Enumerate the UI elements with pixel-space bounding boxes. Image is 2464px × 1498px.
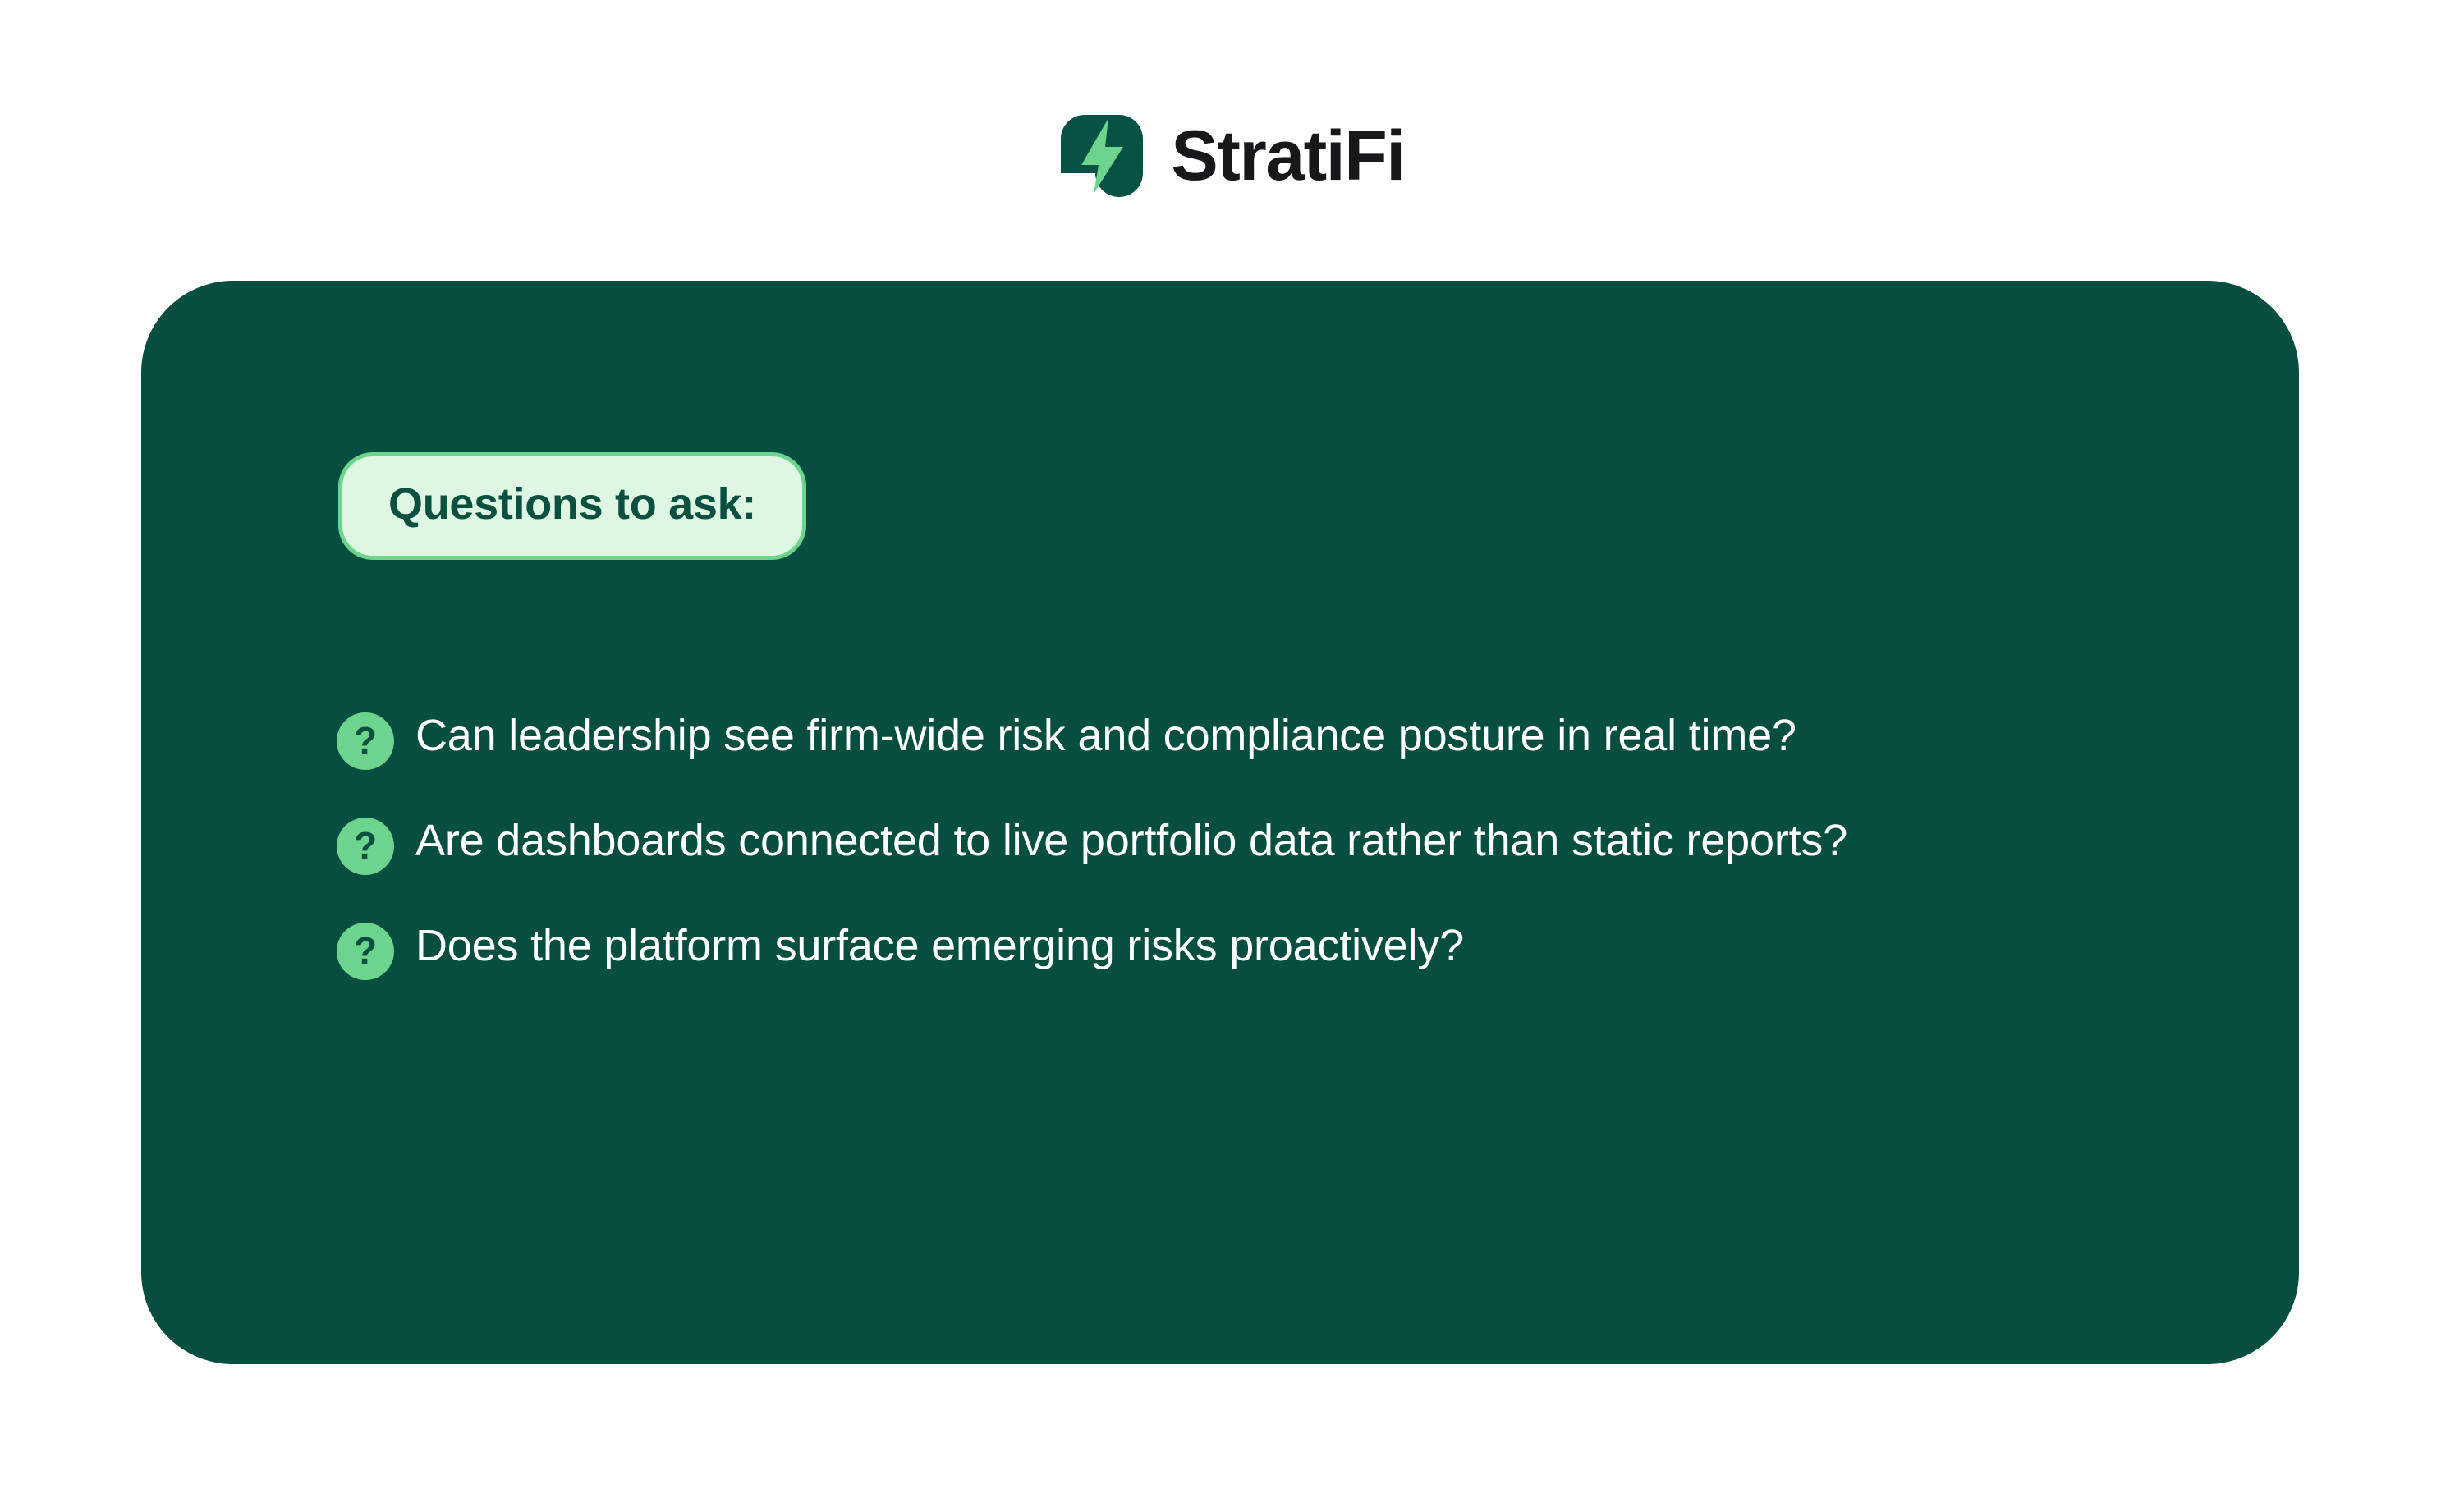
question-text: Are dashboards connected to live portfol… bbox=[415, 813, 1847, 869]
question-text: Does the platform surface emerging risks… bbox=[415, 918, 1464, 974]
list-item: ? Can leadership see firm-wide risk and … bbox=[337, 708, 2159, 770]
question-text: Can leadership see firm-wide risk and co… bbox=[415, 708, 1796, 764]
brand-header: StratiFi bbox=[0, 113, 2464, 199]
questions-heading-pill: Questions to ask: bbox=[338, 452, 806, 560]
question-mark-glyph: ? bbox=[354, 722, 377, 759]
question-mark-icon: ? bbox=[337, 923, 394, 980]
stratifi-bolt-logo-icon bbox=[1059, 113, 1145, 199]
questions-list: ? Can leadership see firm-wide risk and … bbox=[337, 708, 2159, 980]
brand-wordmark: StratiFi bbox=[1171, 121, 1404, 191]
question-mark-icon: ? bbox=[337, 712, 394, 770]
list-item: ? Does the platform surface emerging ris… bbox=[337, 918, 2159, 980]
question-mark-glyph: ? bbox=[354, 932, 377, 969]
question-mark-icon: ? bbox=[337, 818, 394, 875]
question-mark-glyph: ? bbox=[354, 827, 377, 864]
list-item: ? Are dashboards connected to live portf… bbox=[337, 813, 2159, 875]
questions-card: Questions to ask: ? Can leadership see f… bbox=[141, 281, 2299, 1364]
questions-heading-label: Questions to ask: bbox=[388, 481, 756, 528]
